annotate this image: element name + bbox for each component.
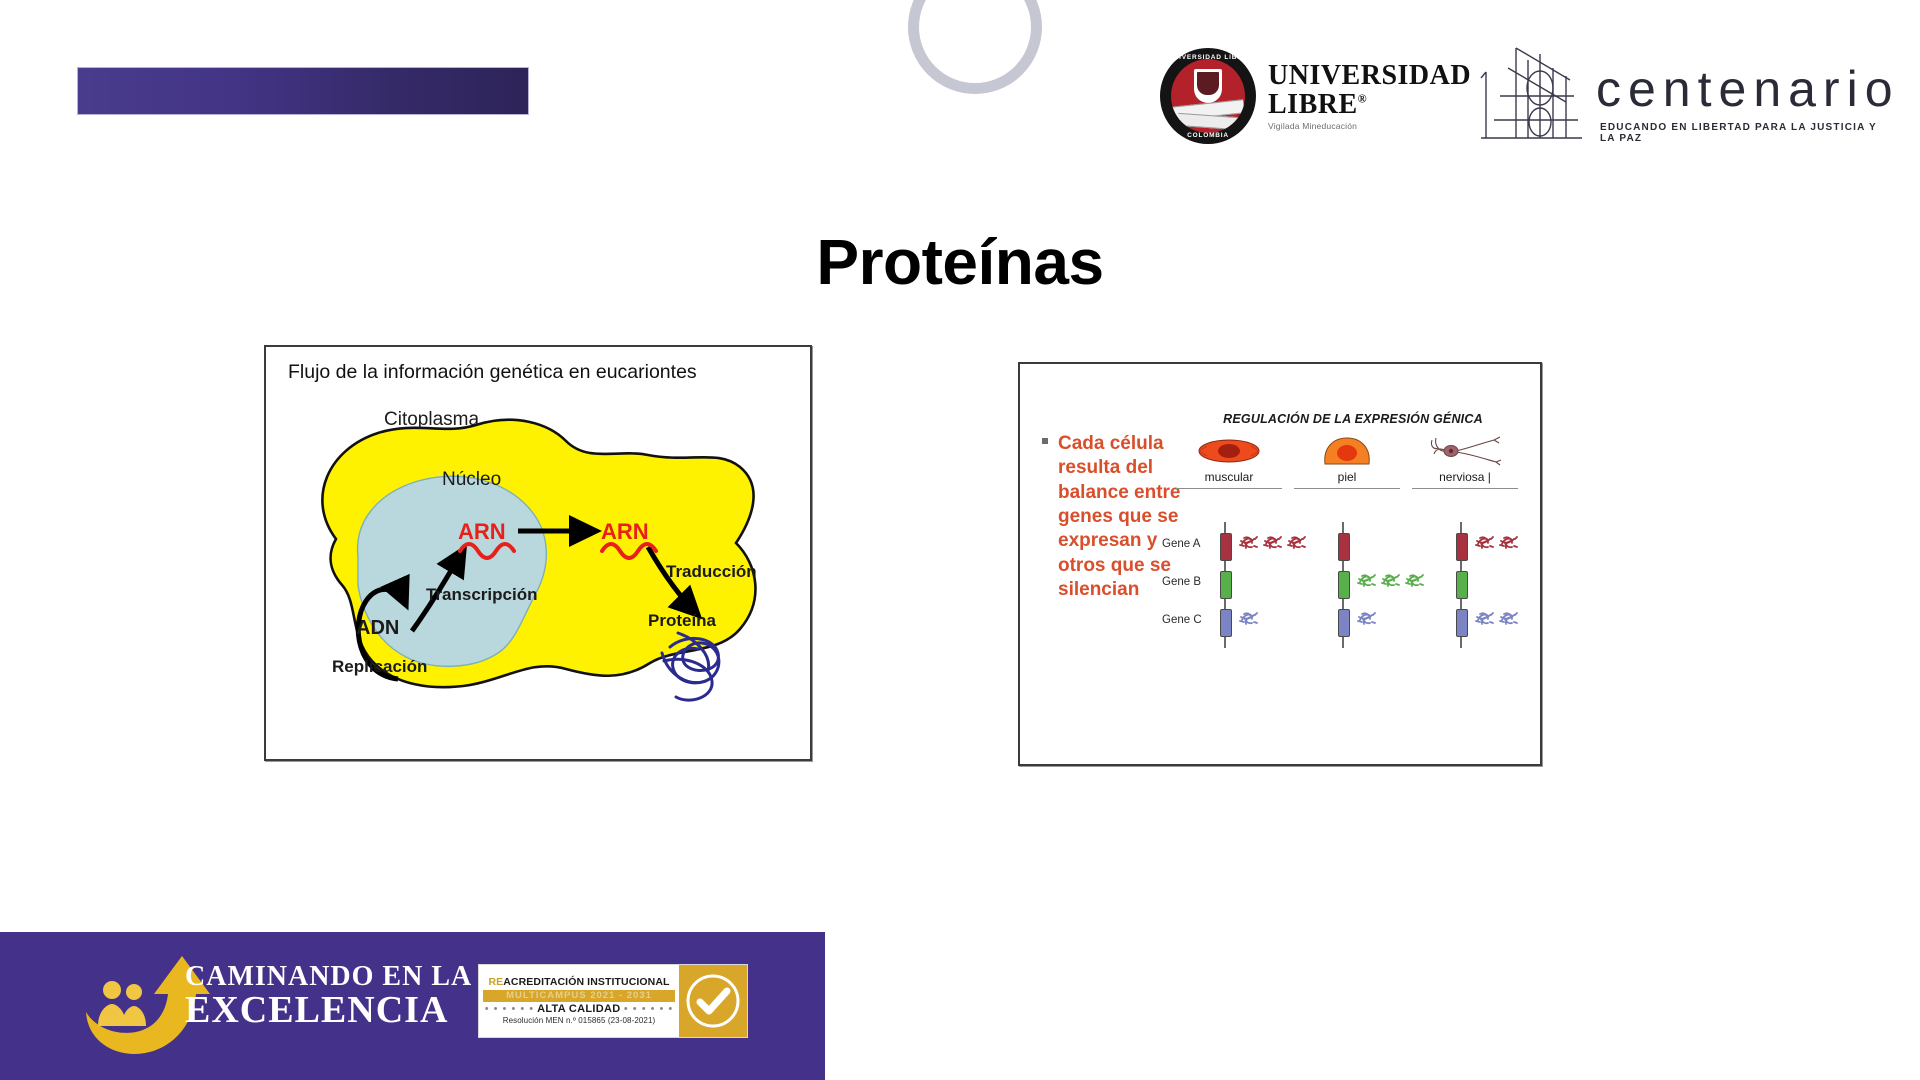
cell-type-label: piel (1294, 470, 1400, 484)
protein-product-icon (1498, 608, 1518, 628)
cell-type-columns: muscularpielnerviosa | (1176, 432, 1526, 522)
gene-expression-grid: Gene AGene BGene C (1162, 528, 1532, 648)
accreditation-prefix: RE (488, 976, 503, 988)
ul-line1: UNIVERSIDAD (1268, 62, 1471, 90)
accreditation-seal (679, 965, 747, 1037)
protein-product-icon (1474, 608, 1494, 628)
seal-ring-bottom-text: COLOMBIA (1160, 132, 1256, 139)
campaign-line1: CAMINANDO EN LA (185, 962, 472, 991)
label-traduccion: Traducción (666, 562, 757, 582)
accreditation-badge: REACREDITACIÓN INSTITUCIONAL MULTICAMPUS… (478, 964, 748, 1038)
cell-type-column-piel: piel (1294, 432, 1400, 489)
protein-product-icon (1262, 532, 1282, 552)
cell-type-label: muscular (1176, 470, 1282, 484)
gene-label: Gene C (1162, 614, 1218, 626)
cell-type-rule (1176, 488, 1282, 489)
accreditation-line1: ACREDITACIÓN INSTITUCIONAL (503, 976, 669, 988)
label-arn-nuclear: ARN (458, 519, 506, 545)
ul-trademark: ® (1358, 92, 1367, 106)
protein-product-icon (1286, 532, 1306, 552)
centenario-mark-icon: 1 (1478, 46, 1600, 142)
label-transcripcion: Transcripción (426, 585, 537, 605)
left-figure-canvas: Citoplasma Núcleo ARN ARN Transcripción … (266, 389, 810, 757)
regulacion-diagram: Cada célula resulta del balance entre ge… (1020, 364, 1540, 764)
muscle-cell-icon (1176, 432, 1282, 468)
protein-product-icon (1380, 570, 1400, 590)
centenario-logo: 1 centenario EDUCANDO EN LIBERTAD PARA L… (1478, 46, 1888, 150)
accreditation-text: REACREDITACIÓN INSTITUCIONAL MULTICAMPUS… (479, 965, 679, 1037)
label-citoplasma: Citoplasma (384, 409, 479, 431)
skin-cell-icon (1294, 432, 1400, 468)
accreditation-line4: Resolución MEN n.º 015865 (23-08-2021) (483, 1016, 675, 1025)
chromosome-2 (1456, 528, 1466, 642)
gene-label: Gene B (1162, 576, 1218, 588)
cell-type-column-nerviosa-|: nerviosa | (1412, 432, 1518, 489)
protein-product-icon (1474, 532, 1494, 552)
cell-type-rule (1294, 488, 1400, 489)
right-figure-frame: Cada célula resulta del balance entre ge… (1018, 362, 1542, 766)
top-accent-bar (78, 68, 528, 114)
check-seal-icon (685, 973, 741, 1029)
accreditation-dots-right: • • • • • • (624, 1003, 673, 1015)
cell-type-label: nerviosa | (1412, 470, 1518, 484)
chromosome-0 (1220, 528, 1230, 642)
gene-label: Gene A (1162, 538, 1218, 550)
bullet-square-icon (1042, 438, 1048, 444)
cell-type-rule (1412, 488, 1518, 489)
ul-subtext: Vigilada Mineducación (1268, 121, 1471, 131)
cell-type-column-muscular: muscular (1176, 432, 1282, 489)
label-proteina: Proteína (648, 611, 716, 631)
universidad-libre-seal-icon: UNIVERSIDAD LIBRE COLOMBIA (1160, 48, 1256, 144)
protein-product-icon (1238, 532, 1258, 552)
universidad-libre-wordmark: UNIVERSIDAD LIBRE® Vigilada Mineducación (1268, 48, 1471, 131)
protein-product-icon (1356, 608, 1376, 628)
left-figure-title: Flujo de la información genética en euca… (288, 361, 697, 384)
label-adn: ADN (356, 617, 399, 640)
label-arn-citoplasmatico: ARN (601, 519, 649, 545)
circle-outline-icon (908, 0, 1042, 94)
campaign-line2: EXCELENCIA (185, 991, 472, 1029)
protein-product-icon (1356, 570, 1376, 590)
seal-shield-icon (1194, 69, 1222, 103)
protein-product-icon (1238, 608, 1258, 628)
right-figure-heading: REGULACIÓN DE LA EXPRESIÓN GÉNICA (1188, 412, 1518, 426)
left-figure-frame: Flujo de la información genética en euca… (264, 345, 812, 761)
centenario-tagline: EDUCANDO EN LIBERTAD PARA LA JUSTICIA Y … (1600, 122, 1888, 144)
label-nucleo: Núcleo (442, 469, 501, 491)
header-logos: UNIVERSIDAD LIBRE COLOMBIA UNIVERSIDAD L… (1160, 40, 1900, 150)
slide-canvas: UNIVERSIDAD LIBRE COLOMBIA UNIVERSIDAD L… (0, 0, 1920, 1080)
protein-product-icon (1404, 570, 1424, 590)
universidad-libre-logo: UNIVERSIDAD LIBRE COLOMBIA UNIVERSIDAD L… (1160, 48, 1471, 144)
nerve-cell-icon (1412, 432, 1518, 468)
accreditation-line3: ALTA CALIDAD (537, 1003, 620, 1015)
label-replicacion: Replicación (332, 657, 427, 677)
chromosome-1 (1338, 528, 1348, 642)
seal-inner-circle (1171, 59, 1245, 133)
page-title: Proteínas (0, 225, 1920, 299)
protein-product-icon (1498, 532, 1518, 552)
accreditation-dots-left: • • • • • • (485, 1003, 534, 1015)
ul-line2: LIBRE (1268, 89, 1358, 120)
seal-banner-lower (1178, 113, 1239, 130)
campaign-wordmark: CAMINANDO EN LA EXCELENCIA (185, 962, 472, 1029)
accreditation-line2: MULTICAMPUS 2021 - 2031 (483, 990, 675, 1002)
centenario-wordmark: centenario (1596, 64, 1900, 114)
